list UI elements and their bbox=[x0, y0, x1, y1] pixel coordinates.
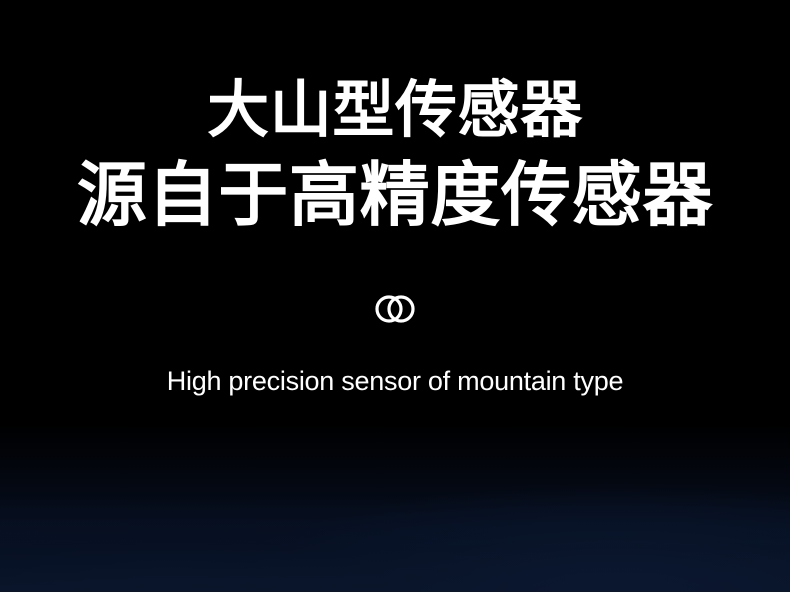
subtitle-text: High precision sensor of mountain type bbox=[0, 366, 790, 397]
headline-line-2: 源自于高精度传感器 bbox=[0, 160, 790, 230]
product-banner: 大山型传感器 源自于高精度传感器 High precision sensor o… bbox=[0, 0, 790, 592]
headline-line-1: 大山型传感器 bbox=[0, 80, 790, 142]
interlocking-rings-icon bbox=[371, 292, 419, 326]
banner-content: 大山型传感器 源自于高精度传感器 High precision sensor o… bbox=[0, 0, 790, 592]
